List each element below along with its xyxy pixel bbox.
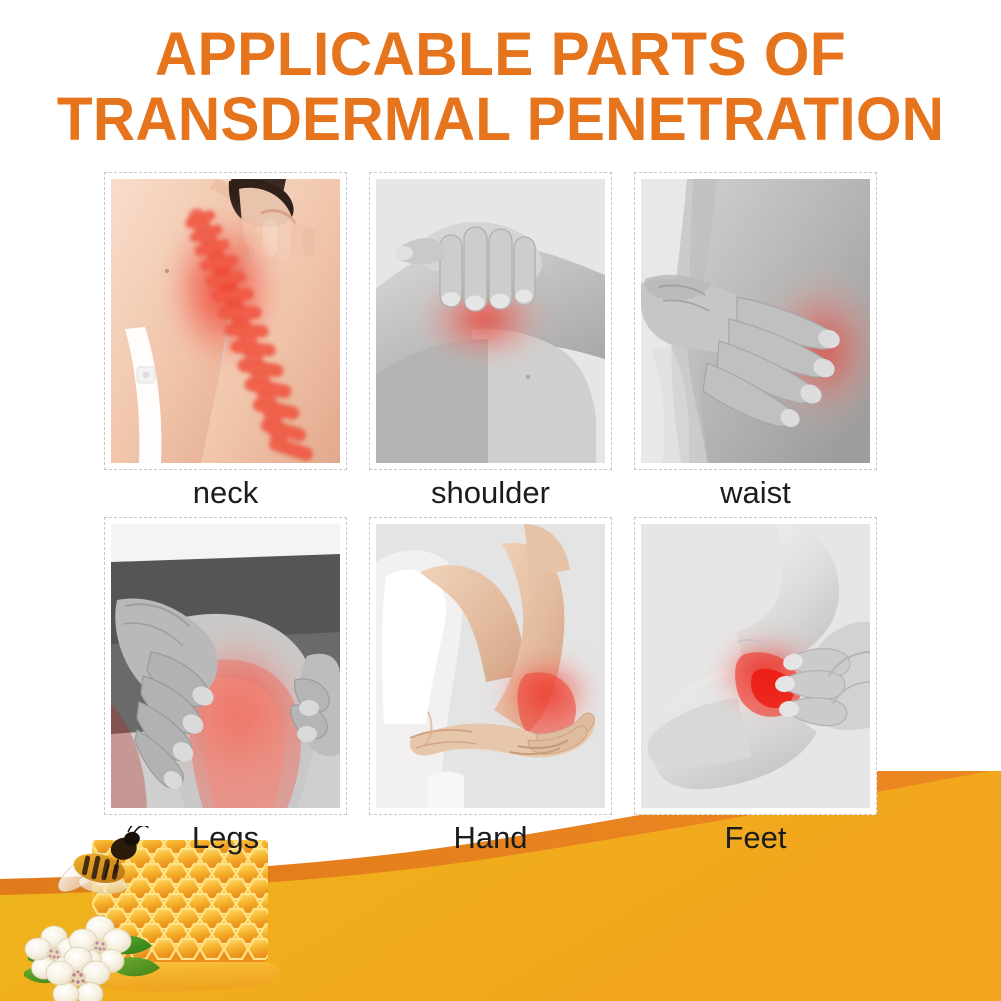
neck-pain-photo bbox=[111, 179, 340, 463]
ankle-pain-photo bbox=[641, 524, 870, 808]
photo-frame-hand bbox=[369, 517, 612, 815]
waist-pain-photo bbox=[641, 179, 870, 463]
grid-cell-legs[interactable]: Legs bbox=[104, 517, 347, 859]
grid-cell-waist[interactable]: waist bbox=[634, 172, 877, 514]
elbow-pain-illustration bbox=[376, 524, 605, 808]
grid-cell-feet[interactable]: Feet bbox=[634, 517, 877, 859]
waist-pain-illustration bbox=[641, 179, 870, 463]
photo-frame-waist bbox=[634, 172, 877, 470]
cell-label-neck: neck bbox=[104, 470, 347, 514]
grid-cell-hand[interactable]: Hand bbox=[369, 517, 612, 859]
knee-pain-photo bbox=[111, 524, 340, 808]
cell-label-legs: Legs bbox=[104, 815, 347, 859]
grid-cell-shoulder[interactable]: shoulder bbox=[369, 172, 612, 514]
infographic-page: APPLICABLE PARTS OF TRANSDERMAL PENETRAT… bbox=[0, 0, 1001, 1001]
page-title: APPLICABLE PARTS OF TRANSDERMAL PENETRAT… bbox=[0, 22, 1001, 151]
cell-label-hand: Hand bbox=[369, 815, 612, 859]
title-line-2: TRANSDERMAL PENETRATION bbox=[20, 87, 981, 152]
cell-label-waist: waist bbox=[634, 470, 877, 514]
elbow-pain-photo bbox=[376, 524, 605, 808]
applicable-parts-grid: neck bbox=[104, 172, 876, 859]
cell-label-feet: Feet bbox=[634, 815, 877, 859]
shoulder-pain-illustration bbox=[376, 179, 605, 463]
title-line-1: APPLICABLE PARTS OF bbox=[20, 22, 981, 87]
shoulder-pain-photo bbox=[376, 179, 605, 463]
photo-frame-neck bbox=[104, 172, 347, 470]
grid-cell-neck[interactable]: neck bbox=[104, 172, 347, 514]
neck-pain-illustration bbox=[111, 179, 340, 463]
photo-frame-feet bbox=[634, 517, 877, 815]
photo-frame-shoulder bbox=[369, 172, 612, 470]
photo-frame-legs bbox=[104, 517, 347, 815]
knee-pain-illustration bbox=[111, 524, 340, 808]
ankle-pain-illustration bbox=[641, 524, 870, 808]
cell-label-shoulder: shoulder bbox=[369, 470, 612, 514]
